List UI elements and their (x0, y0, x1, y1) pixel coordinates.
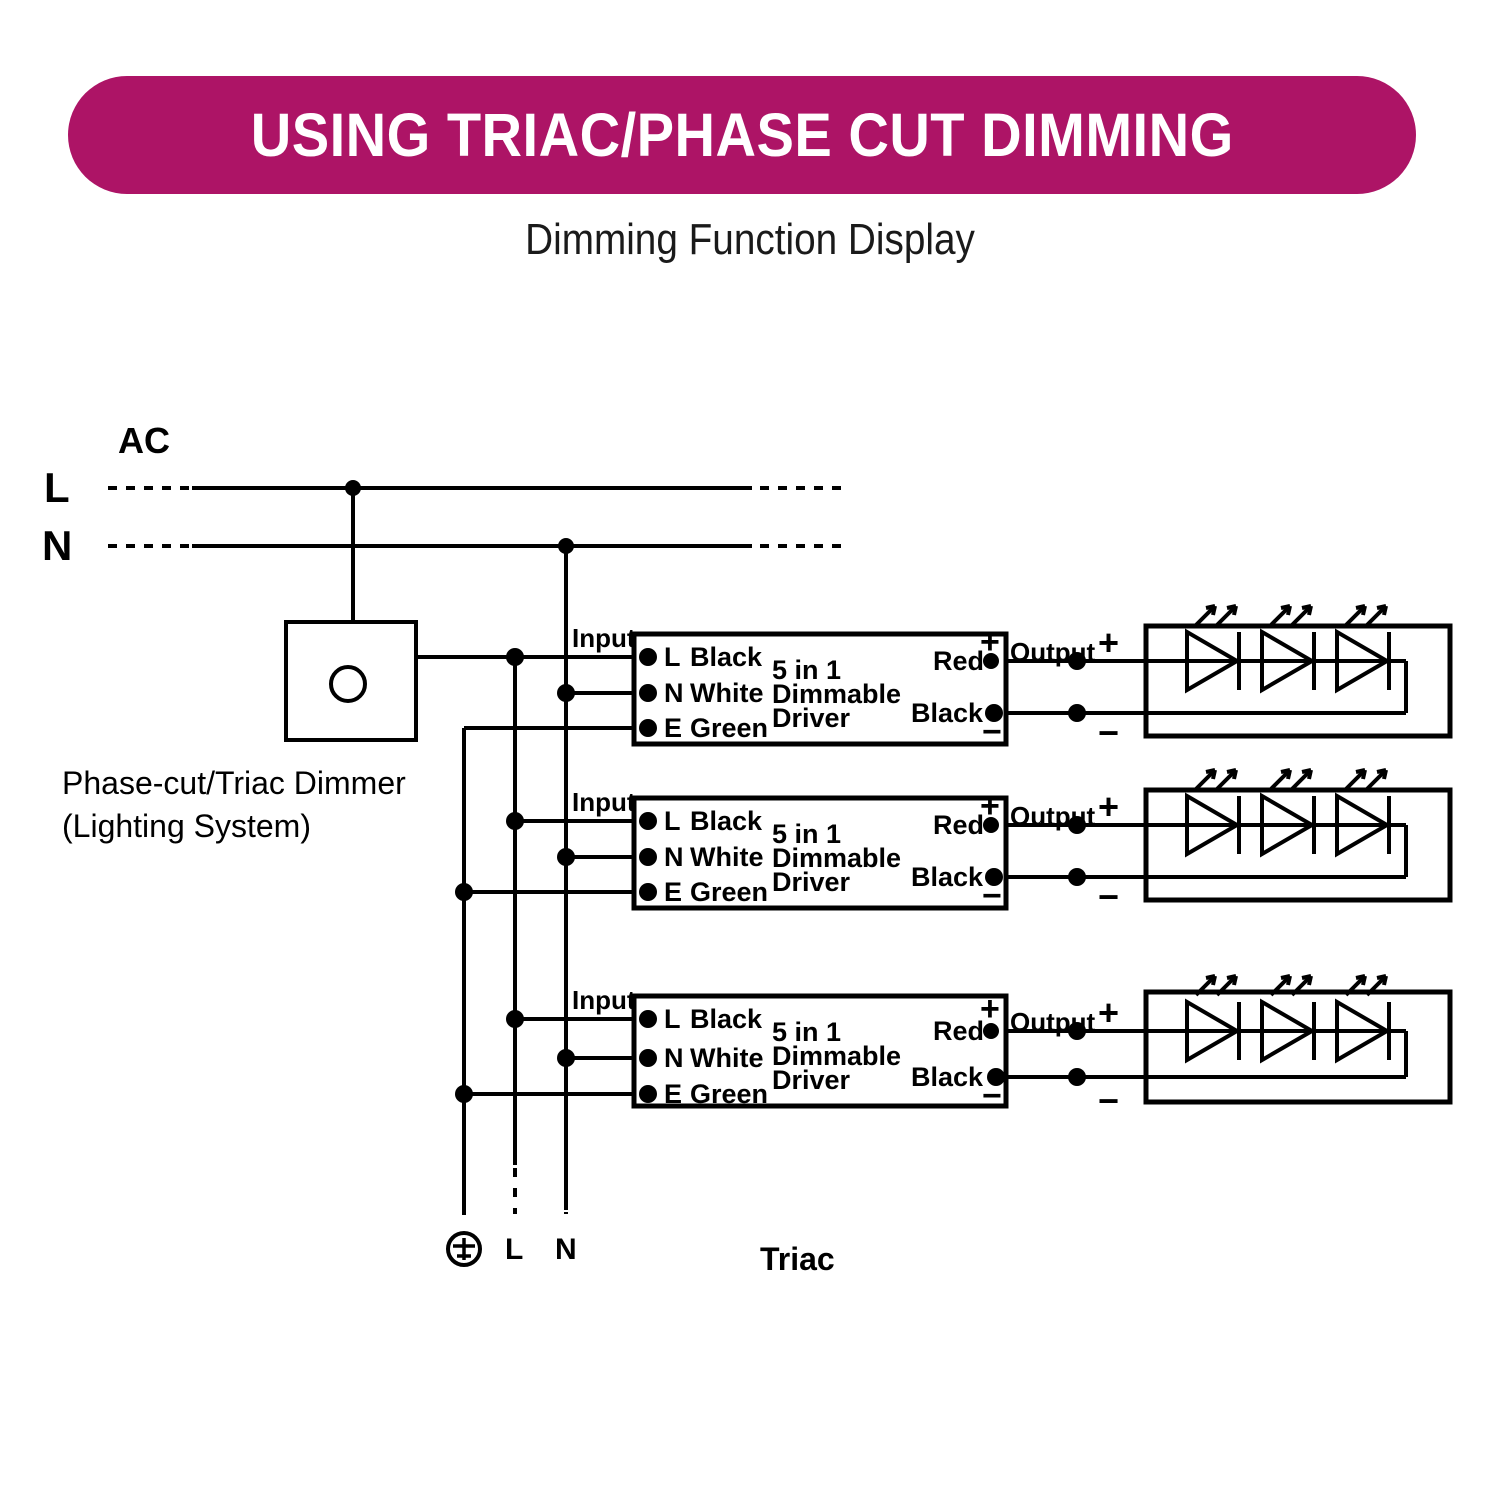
driver2-wire-E: Green (690, 879, 768, 906)
driver2-wire-L: Black (690, 808, 762, 835)
junction-dot (345, 480, 361, 496)
junction-dot (1068, 1068, 1086, 1086)
junction-dot (506, 1010, 524, 1028)
driver2-out-black: Black (911, 864, 983, 891)
terminal-dot (639, 883, 657, 901)
driver2-input-label: Input (572, 789, 636, 815)
led-arrow (1271, 770, 1290, 789)
led-arrow (1292, 606, 1311, 625)
led-arrow (1196, 770, 1215, 789)
led-arrow (1217, 606, 1236, 625)
driver2-output-label: Output (1010, 803, 1095, 829)
led-arrow (1217, 770, 1236, 789)
driver1-title-3: Driver (772, 703, 850, 735)
led-arrow (1292, 770, 1311, 789)
dimmer-knob-icon (331, 667, 365, 701)
driver3-input-label: Input (572, 987, 636, 1013)
junction-dot (455, 1085, 473, 1103)
driver1-terminal-E: E (664, 715, 682, 742)
driver2-terminal-E: E (664, 879, 682, 906)
diagram-svg (0, 0, 1500, 1500)
driver2-out-minus-symbol: − (982, 879, 1002, 913)
led-arrow (1271, 606, 1290, 625)
driver1-out-minus-symbol: − (982, 715, 1002, 749)
driver1-out-black: Black (911, 700, 983, 727)
dimmer-box (286, 622, 416, 740)
live-terminal-label: L (44, 467, 70, 509)
led-arrow (1367, 606, 1386, 625)
driver3-wire-N: White (690, 1045, 764, 1072)
driver3-out-red: Red (933, 1018, 984, 1045)
bottom-live-label: L (505, 1235, 523, 1265)
junction-dot (1068, 704, 1086, 722)
dimmer-caption-line2: (Lighting System) (62, 806, 311, 848)
junction-dot (1068, 868, 1086, 886)
driver3-terminal-L: L (664, 1006, 681, 1033)
driver3-title-3: Driver (772, 1065, 850, 1097)
terminal-dot (639, 719, 657, 737)
junction-dot (558, 538, 574, 554)
junction-dot (506, 812, 524, 830)
driver1-load-minus: − (1098, 715, 1119, 751)
driver1-input-label: Input (572, 625, 636, 651)
junction-dot (455, 883, 473, 901)
driver2-title-3: Driver (772, 867, 850, 899)
ac-label: AC (118, 423, 170, 459)
driver2-out-red: Red (933, 812, 984, 839)
wiring-diagram: AC L N Phase-cut/Triac Dimmer (Lighting … (0, 0, 1500, 1500)
terminal-dot (639, 848, 657, 866)
driver1-output-label: Output (1010, 639, 1095, 665)
driver3-load-plus: + (1098, 995, 1119, 1031)
driver3-out-black: Black (911, 1064, 983, 1091)
driver3-out-minus-symbol: − (982, 1079, 1002, 1113)
terminal-dot (639, 1085, 657, 1103)
driver3-load-minus: − (1098, 1083, 1119, 1119)
bottom-neutral-label: N (555, 1235, 577, 1265)
driver1-wire-N: White (690, 680, 764, 707)
driver2-terminal-L: L (664, 808, 681, 835)
driver3-terminal-E: E (664, 1081, 682, 1108)
driver2-load-plus: + (1098, 789, 1119, 825)
driver1-terminal-L: L (664, 644, 681, 671)
driver3-terminal-N: N (664, 1045, 684, 1072)
driver3-wire-L: Black (690, 1006, 762, 1033)
terminal-dot (639, 812, 657, 830)
led-arrow (1346, 770, 1365, 789)
junction-dot (557, 684, 575, 702)
led-arrow (1196, 606, 1215, 625)
driver1-terminal-N: N (664, 680, 684, 707)
terminal-dot (639, 1049, 657, 1067)
driver1-out-red: Red (933, 648, 984, 675)
junction-dot (557, 848, 575, 866)
led-arrow (1367, 770, 1386, 789)
driver2-load-minus: − (1098, 879, 1119, 915)
terminal-dot (639, 1010, 657, 1028)
neutral-terminal-label: N (42, 525, 72, 567)
driver3-output-label: Output (1010, 1009, 1095, 1035)
driver2-wire-N: White (690, 844, 764, 871)
junction-dot (506, 648, 524, 666)
footer-label: Triac (760, 1243, 835, 1275)
led-arrow (1346, 606, 1365, 625)
terminal-dot (639, 684, 657, 702)
driver1-wire-L: Black (690, 644, 762, 671)
dimmer-caption-line1: Phase-cut/Triac Dimmer (62, 763, 406, 805)
terminal-dot (639, 648, 657, 666)
earth-ground-glyph (453, 1238, 475, 1260)
junction-dot (557, 1049, 575, 1067)
driver3-wire-E: Green (690, 1081, 768, 1108)
driver1-load-plus: + (1098, 625, 1119, 661)
driver1-wire-E: Green (690, 715, 768, 742)
driver2-terminal-N: N (664, 844, 684, 871)
